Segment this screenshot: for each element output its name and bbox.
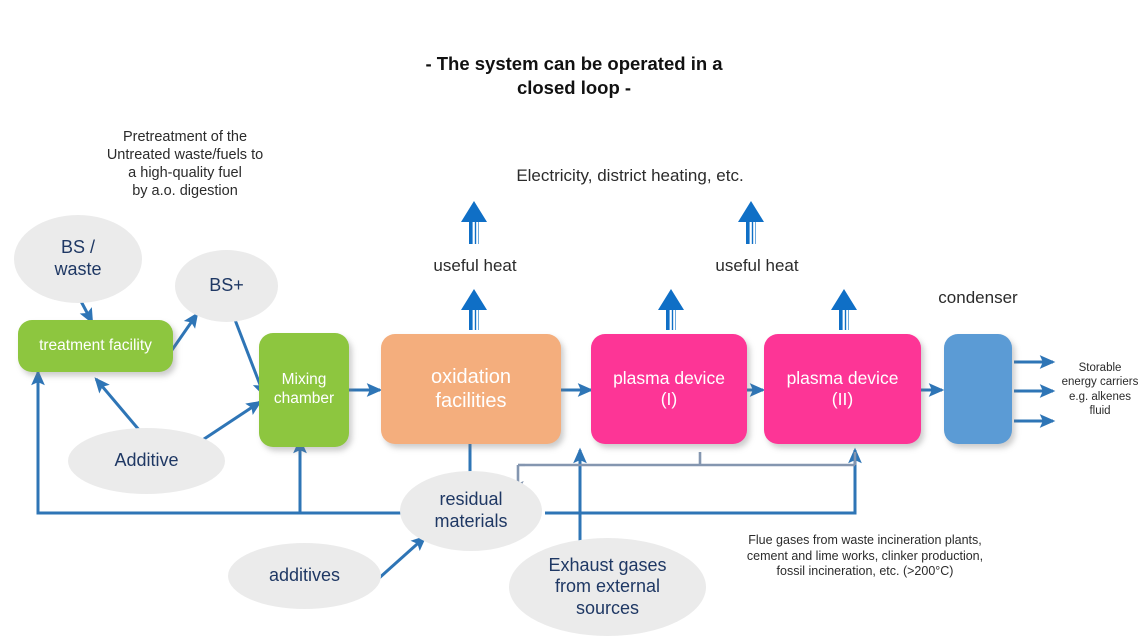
node-oxidation-facilities[interactable]: oxidation facilities — [381, 334, 561, 444]
node-bs-waste-line-2: waste — [54, 259, 101, 281]
node-exhaust-line-1: Exhaust gases — [548, 555, 666, 577]
pretreatment-line-2: Untreated waste/fuels to — [78, 146, 292, 164]
useful-heat-label-left: useful heat — [400, 255, 550, 276]
edge-additives-to-residual — [377, 537, 425, 580]
node-mixing-chamber-line-1: Mixing — [274, 371, 334, 390]
node-bs-waste-line-1: BS / — [54, 237, 101, 259]
storable-line-4: fluid — [1052, 404, 1148, 418]
node-exhaust-line-3: sources — [548, 598, 666, 620]
node-residual-materials[interactable]: residual materials — [400, 471, 542, 551]
storable-line-2: energy carriers — [1052, 375, 1148, 389]
node-exhaust-line-2: from external — [548, 576, 666, 598]
diagram-title: - The system can be operated in a closed… — [324, 52, 824, 100]
storable-line-3: e.g. alkenes — [1052, 390, 1148, 404]
node-condenser[interactable] — [944, 334, 1012, 444]
diagram-canvas: - The system can be operated in a closed… — [0, 0, 1148, 641]
node-mixing-chamber-line-2: chamber — [274, 390, 334, 409]
diagram-title-line-1: - The system can be operated in a — [324, 52, 824, 76]
pretreatment-annotation: Pretreatment of the Untreated waste/fuel… — [78, 128, 292, 201]
node-plasma-device-1[interactable]: plasma device (I) — [591, 334, 747, 444]
pretreatment-line-1: Pretreatment of the — [78, 128, 292, 146]
node-additives[interactable]: additives — [228, 543, 381, 609]
flue-gases-line-1: Flue gases from waste incineration plant… — [718, 533, 1012, 549]
node-bs-waste[interactable]: BS / waste — [14, 215, 142, 303]
heat-arrow-lower-left — [458, 288, 490, 337]
condenser-label: condenser — [908, 287, 1048, 308]
heat-arrow-upper-right — [735, 200, 767, 251]
node-treatment-facility[interactable]: treatment facility — [18, 320, 173, 372]
node-plasma-2-line-2: (II) — [787, 389, 899, 410]
node-residual-line-1: residual — [434, 489, 507, 511]
flue-gases-annotation: Flue gases from waste incineration plant… — [718, 533, 1012, 580]
electricity-label: Electricity, district heating, etc. — [430, 165, 830, 186]
edge-additive-to-mixing — [198, 402, 260, 443]
node-oxidation-line-1: oxidation — [431, 365, 511, 389]
diagram-title-line-2: closed loop - — [324, 76, 824, 100]
storable-energy-carriers-label: Storable energy carriers e.g. alkenes fl… — [1052, 361, 1148, 419]
edge-residual-to-plasma2 — [545, 450, 855, 513]
node-plasma-2-line-1: plasma device — [787, 368, 899, 389]
heat-arrow-upper-left — [458, 200, 490, 251]
useful-heat-label-right: useful heat — [682, 255, 832, 276]
storable-line-1: Storable — [1052, 361, 1148, 375]
node-plasma-1-line-1: plasma device — [613, 368, 725, 389]
node-additive-label: Additive — [114, 450, 178, 472]
node-bs-plus-label: BS+ — [209, 275, 244, 297]
node-plasma-1-line-2: (I) — [613, 389, 725, 410]
flue-gases-line-3: fossil incineration, etc. (>200°C) — [718, 564, 1012, 580]
heat-arrow-lower-right — [828, 288, 860, 337]
node-residual-line-2: materials — [434, 511, 507, 533]
node-mixing-chamber[interactable]: Mixing chamber — [259, 333, 349, 447]
flue-gases-line-2: cement and lime works, clinker productio… — [718, 549, 1012, 565]
node-additives-label: additives — [269, 565, 340, 587]
node-exhaust-gases[interactable]: Exhaust gases from external sources — [509, 538, 706, 636]
pretreatment-line-3: a high-quality fuel — [78, 164, 292, 182]
edge-treatment-to-bsplus — [172, 314, 197, 350]
node-treatment-facility-label: treatment facility — [39, 337, 152, 356]
node-oxidation-line-2: facilities — [431, 389, 511, 413]
pretreatment-line-4: by a.o. digestion — [78, 182, 292, 200]
node-plasma-device-2[interactable]: plasma device (II) — [764, 334, 921, 444]
node-additive[interactable]: Additive — [68, 428, 225, 494]
node-bs-plus[interactable]: BS+ — [175, 250, 278, 322]
heat-arrow-lower-mid — [655, 288, 687, 337]
